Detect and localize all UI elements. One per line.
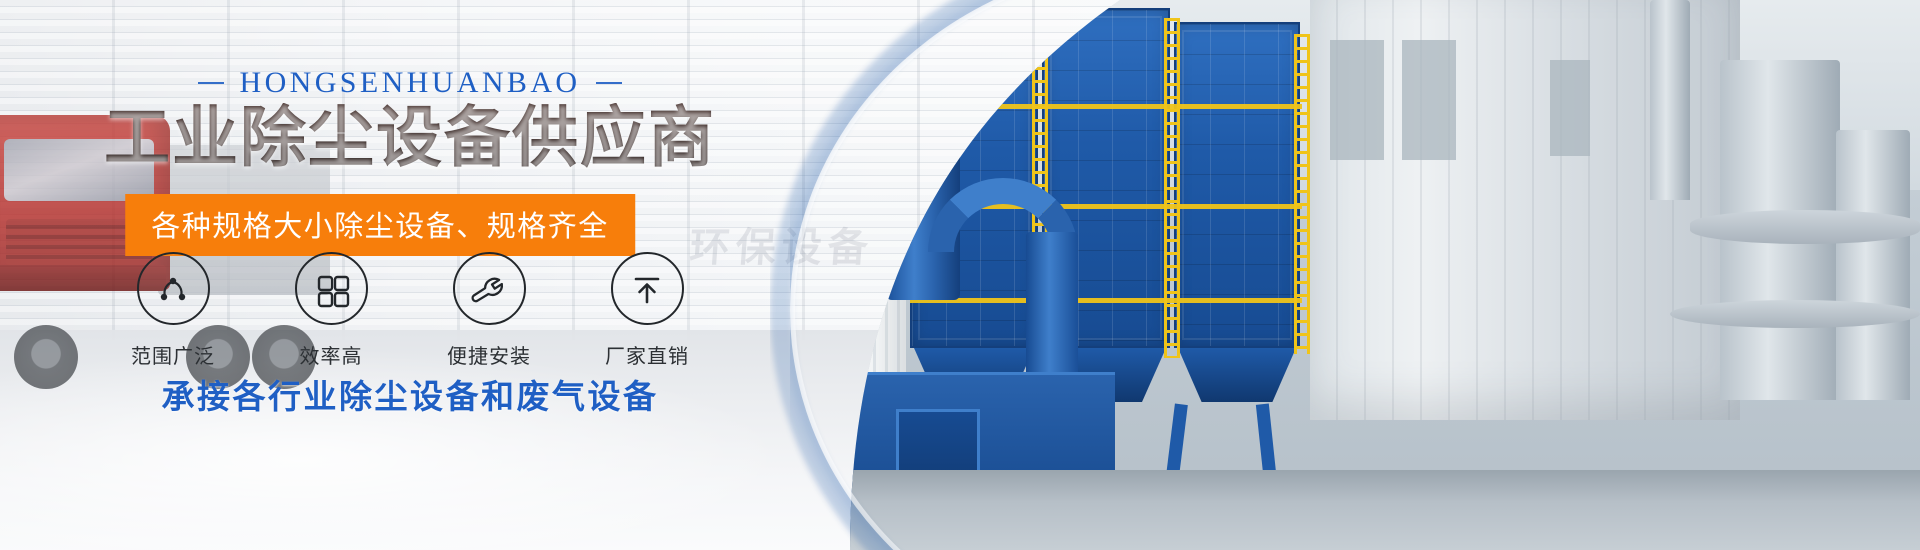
grid-squares-icon	[295, 252, 368, 325]
subtitle-orange-bar: 各种规格大小除尘设备、规格齐全	[125, 194, 635, 256]
feature-item-efficiency[interactable]: 效率高	[276, 252, 386, 369]
stack-column	[1650, 0, 1690, 200]
banner-content: HONGSENHUANBAO 工业除尘设备供应商 各种规格大小除尘设备、规格齐全…	[0, 0, 860, 550]
feature-label: 范围广泛	[131, 340, 215, 369]
hero-banner: 环保设备	[0, 0, 1920, 550]
building-window	[1402, 40, 1456, 160]
feature-item-range[interactable]: 范围广泛	[118, 252, 228, 369]
bottom-tagline: 承接各行业除尘设备和废气设备	[0, 370, 820, 418]
building-window	[1550, 60, 1590, 156]
safety-ladder	[1164, 18, 1180, 358]
wrench-gear-icon	[453, 252, 526, 325]
eyebrow-text: HONGSENHUANBAO	[240, 66, 581, 100]
dash-right-icon	[596, 82, 622, 84]
feature-item-installation[interactable]: 便捷安装	[434, 252, 544, 369]
feature-label: 厂家直销	[605, 340, 689, 369]
ash-hopper	[1178, 348, 1296, 402]
building-window	[1330, 40, 1384, 160]
arrow-up-bar-icon	[611, 252, 684, 325]
page-title: 工业除尘设备供应商	[0, 103, 820, 173]
steel-silo	[1836, 130, 1910, 400]
feature-label: 便捷安装	[447, 340, 531, 369]
dash-left-icon	[198, 82, 224, 84]
duct-pipe	[1670, 300, 1920, 328]
duct-pipe	[1690, 210, 1920, 244]
feature-label: 效率高	[300, 340, 363, 369]
safety-ladder	[1294, 34, 1310, 354]
network-nodes-icon	[137, 252, 210, 325]
feature-list: 范围广泛 效率高	[0, 252, 820, 369]
subtitle-text: 各种规格大小除尘设备、规格齐全	[151, 209, 609, 243]
eyebrow-pinyin: HONGSENHUANBAO	[0, 66, 820, 100]
feature-item-direct-sales[interactable]: 厂家直销	[592, 252, 702, 369]
